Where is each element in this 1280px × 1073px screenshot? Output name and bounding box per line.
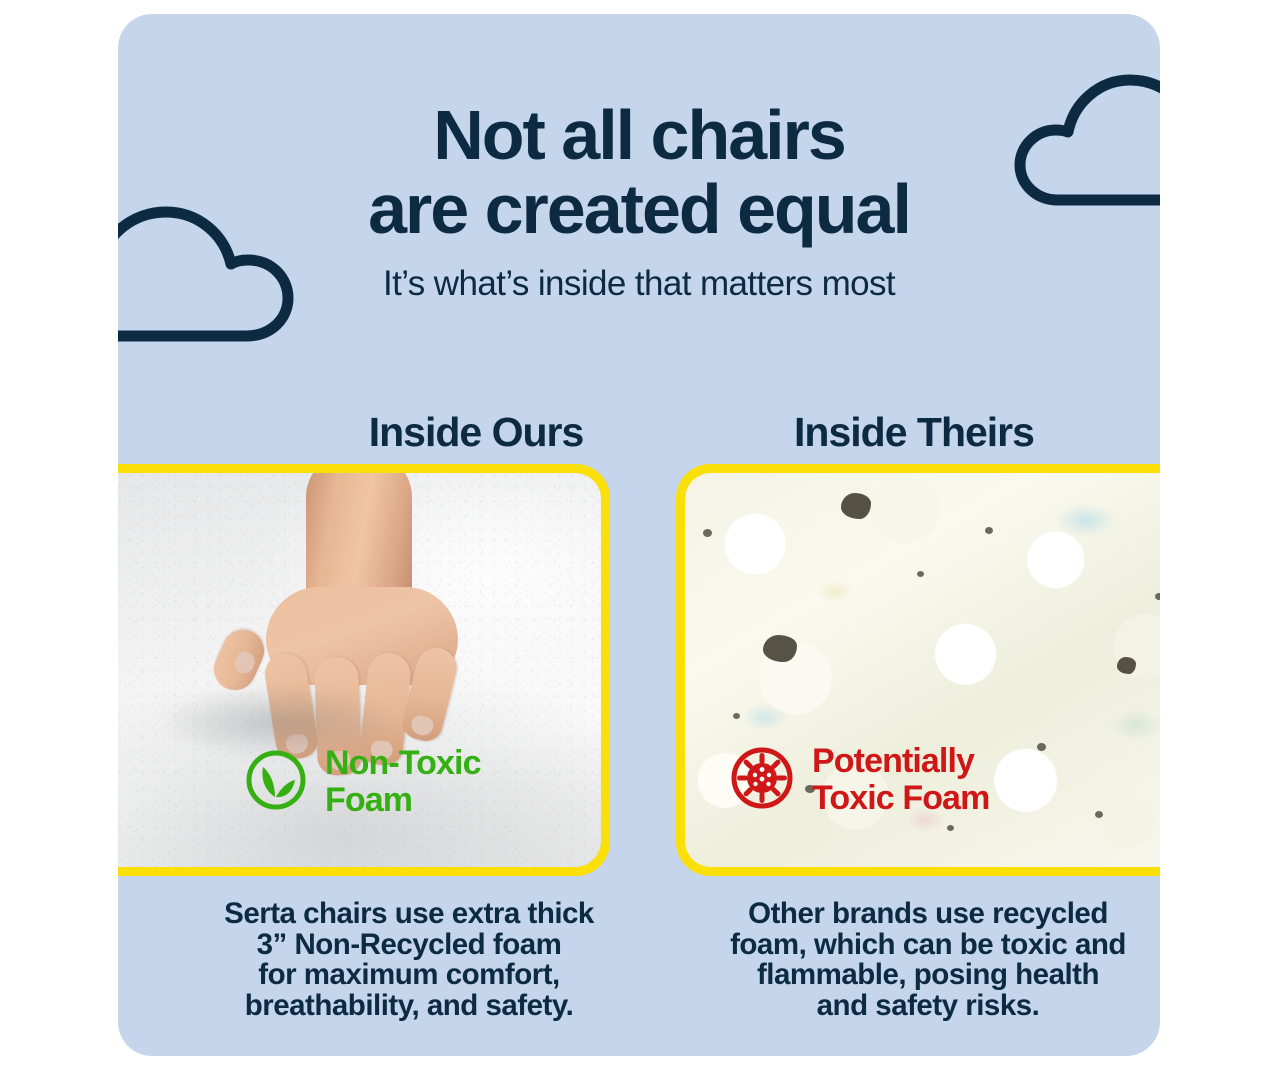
debris-fleck bbox=[917, 571, 924, 577]
debris-fleck bbox=[1095, 811, 1103, 818]
badge-label-toxic: Potentially Toxic Foam bbox=[812, 743, 989, 817]
badge-potentially-toxic-foam: Potentially Toxic Foam bbox=[729, 743, 989, 817]
panel-theirs: Potentially Toxic Foam bbox=[676, 464, 1160, 876]
infographic-card: Not all chairs are created equal It’s wh… bbox=[118, 14, 1160, 1056]
caption-ours: Serta chairs use extra thick 3” Non-Recy… bbox=[153, 899, 665, 1021]
debris-fleck bbox=[1037, 743, 1046, 751]
debris-fleck bbox=[703, 529, 712, 537]
headline-block: Not all chairs are created equal It’s wh… bbox=[118, 98, 1160, 304]
debris-fleck bbox=[947, 825, 954, 831]
debris-fleck bbox=[1155, 593, 1160, 600]
leaf-icon bbox=[244, 748, 308, 817]
virus-icon bbox=[729, 745, 795, 816]
debris-fleck bbox=[841, 493, 871, 519]
debris-fleck bbox=[763, 635, 797, 662]
headline-line-1: Not all chairs bbox=[118, 98, 1160, 172]
debris-fleck bbox=[1117, 657, 1136, 674]
panel-theirs-image: Potentially Toxic Foam bbox=[685, 473, 1160, 867]
finger-thumb bbox=[207, 623, 271, 697]
panel-ours: Non-Toxic Foam bbox=[118, 464, 610, 876]
subheadline: It’s what’s inside that matters most bbox=[118, 264, 1160, 304]
fingernail bbox=[232, 649, 258, 677]
badge-non-toxic-foam: Non-Toxic Foam bbox=[244, 745, 481, 819]
column-heading-ours: Inside Ours bbox=[231, 406, 721, 458]
fingernail bbox=[409, 714, 435, 738]
panel-ours-image: Non-Toxic Foam bbox=[118, 473, 601, 867]
badge-label-non-toxic: Non-Toxic Foam bbox=[325, 745, 481, 819]
column-heading-theirs: Inside Theirs bbox=[669, 406, 1159, 458]
debris-fleck bbox=[985, 527, 993, 534]
headline-line-2: are created equal bbox=[118, 172, 1160, 246]
debris-fleck bbox=[733, 713, 740, 719]
caption-theirs: Other brands use recycled foam, which ca… bbox=[678, 899, 1160, 1021]
